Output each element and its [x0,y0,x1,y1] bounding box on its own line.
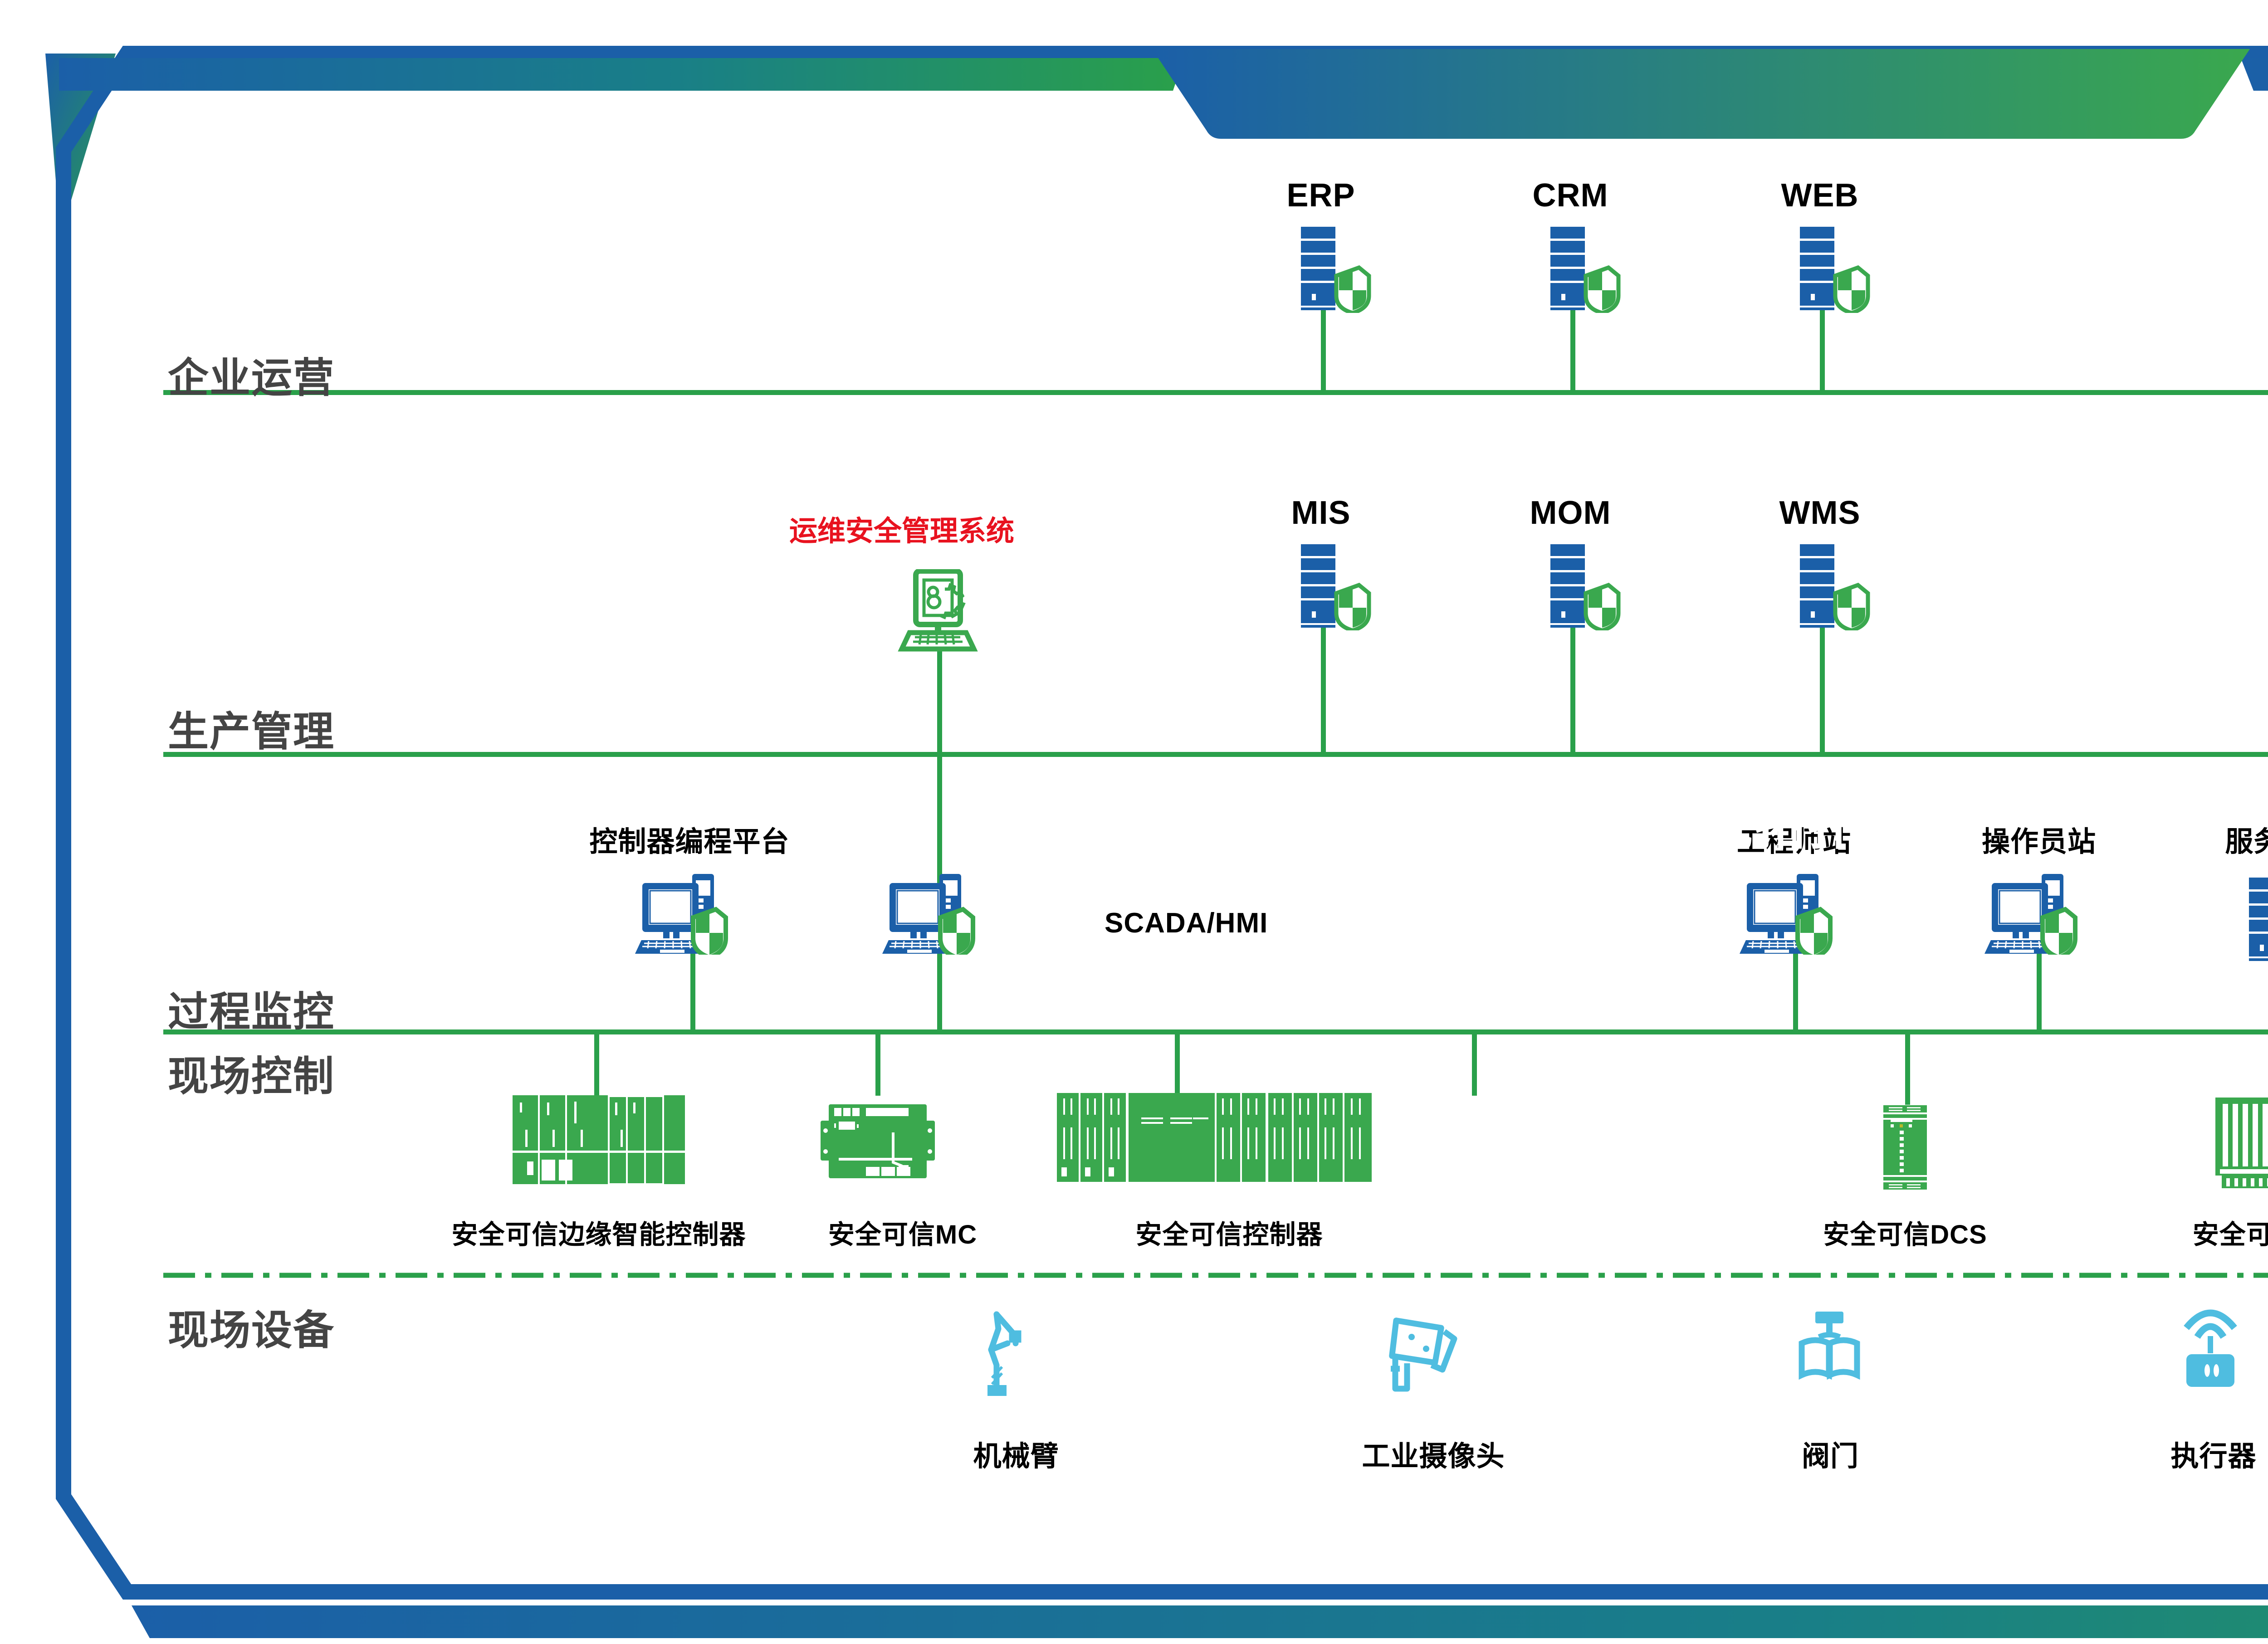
page-title: 运维安全管理系统拓扑图 [0,0,2268,1644]
topology-diagram: 运维安全管理系统拓扑图 企业运营 生产管理 过程监控 现场控制 现场设备 ERP… [0,0,2268,1644]
